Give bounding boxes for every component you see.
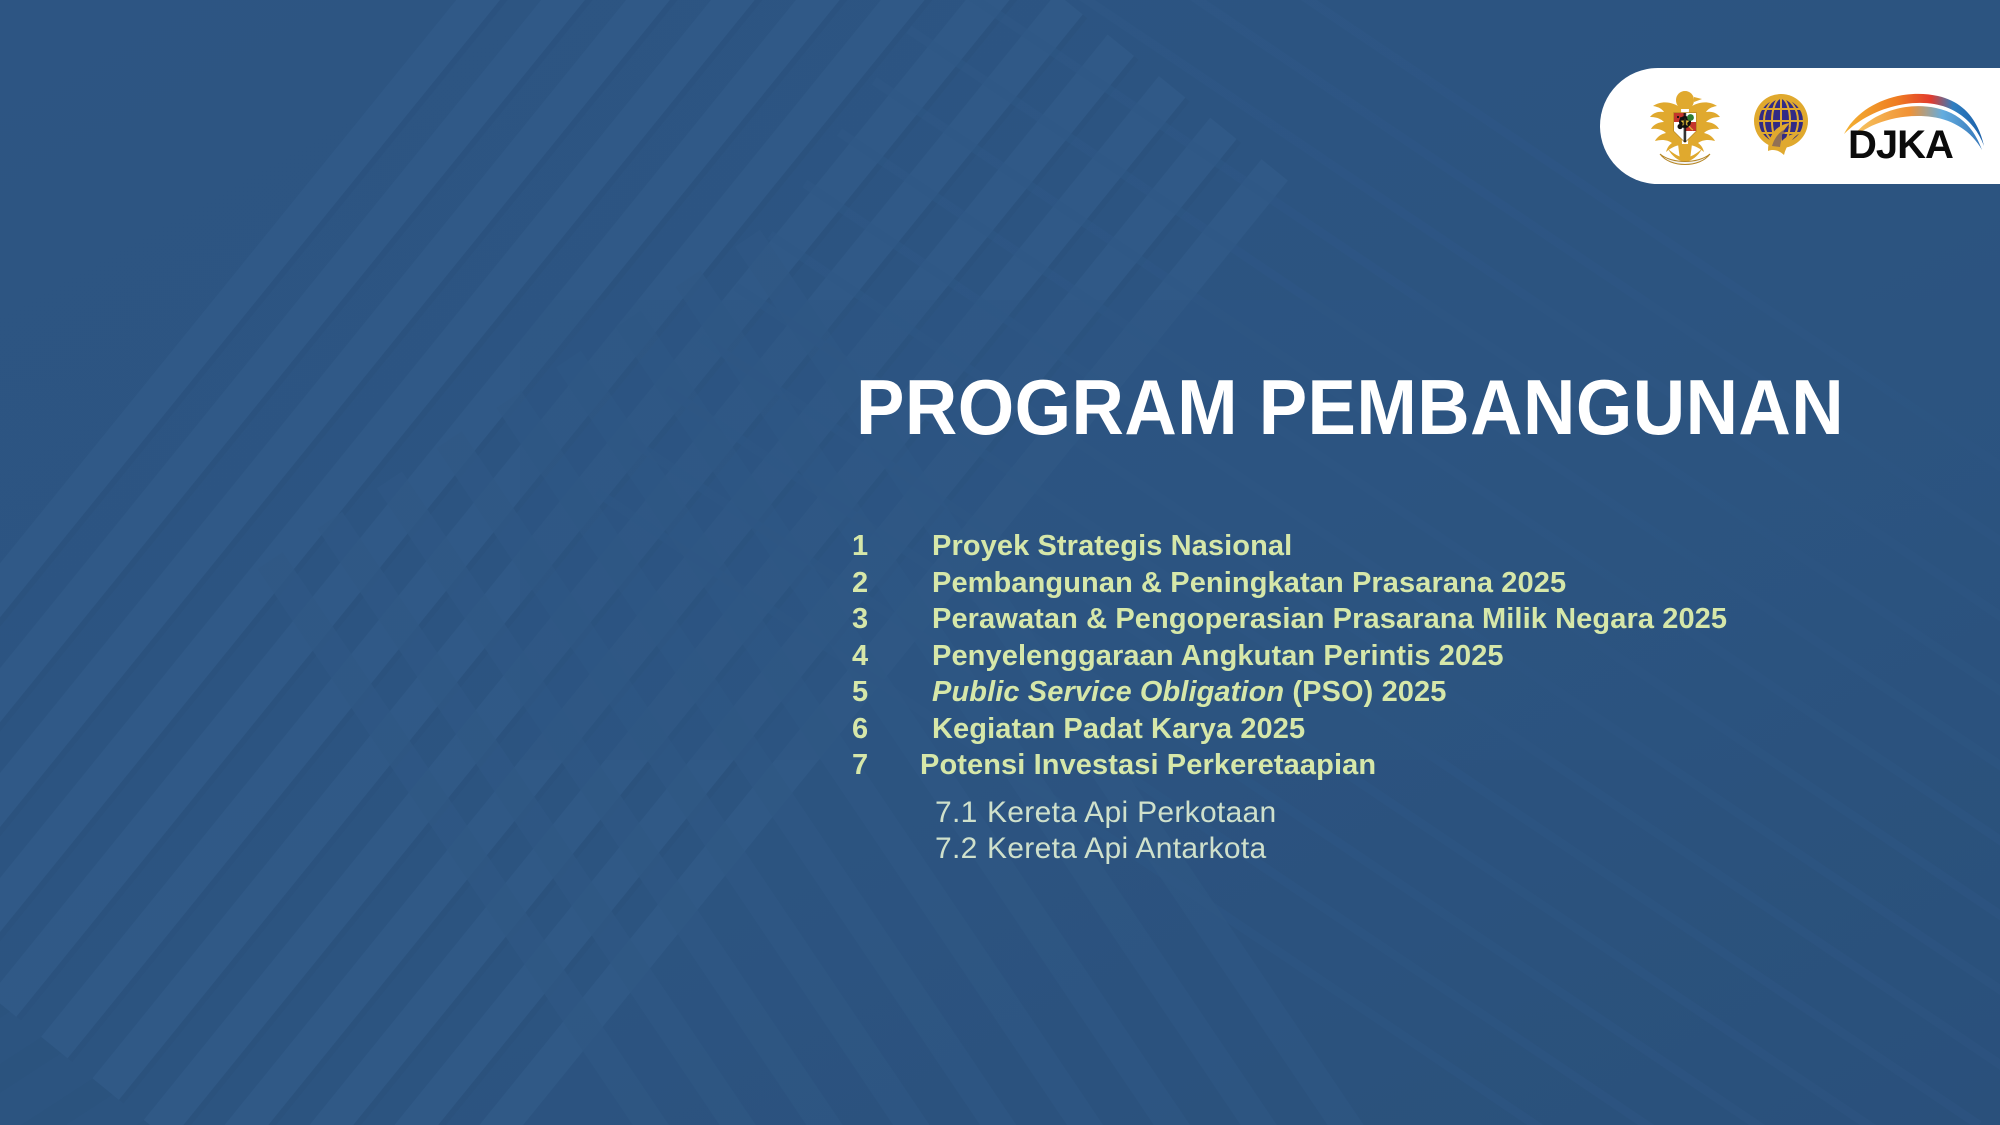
list-item[interactable]: 2 Pembangunan & Peningkatan Prasarana 20…: [852, 565, 1952, 602]
list-item-label: Potensi Investasi Perkeretaapian: [920, 747, 1376, 784]
slide-root: DJKA PROGRAM PEMBANGUNAN 1 Proyek Strate…: [0, 0, 2000, 1125]
sublist-item[interactable]: 7.1 Kereta Api Perkotaan: [935, 795, 1277, 831]
list-item[interactable]: 4 Penyelenggaraan Angkutan Perintis 2025: [852, 638, 1952, 675]
kemenhub-icon: [1748, 89, 1814, 163]
logo-bar: DJKA: [1600, 68, 2000, 184]
list-item-label-italic: Public Service Obligation: [932, 676, 1284, 708]
sublist-item-number: 7.2: [935, 831, 987, 867]
list-item[interactable]: 7 Potensi Investasi Perkeretaapian: [852, 747, 1952, 784]
garuda-pancasila-icon: [1648, 86, 1722, 166]
list-item-number: 1: [852, 528, 932, 565]
sublist-item[interactable]: 7.2 Kereta Api Antarkota: [935, 831, 1277, 867]
list-item-label: Public Service Obligation (PSO) 2025: [932, 674, 1447, 711]
agenda-list: 1 Proyek Strategis Nasional 2 Pembanguna…: [852, 528, 1952, 784]
list-item[interactable]: 6 Kegiatan Padat Karya 2025: [852, 711, 1952, 748]
list-item-label: Kegiatan Padat Karya 2025: [932, 711, 1305, 748]
svg-text:DJKA: DJKA: [1848, 123, 1953, 164]
sublist-item-label: Kereta Api Antarkota: [987, 831, 1267, 867]
list-item[interactable]: 3 Perawatan & Pengoperasian Prasarana Mi…: [852, 601, 1952, 638]
list-item-number: 5: [852, 674, 932, 711]
sublist-item-number: 7.1: [935, 795, 987, 831]
list-item[interactable]: 5 Public Service Obligation (PSO) 2025: [852, 674, 1952, 711]
list-item-number: 6: [852, 711, 932, 748]
list-item-number: 2: [852, 565, 932, 602]
list-item-label: Penyelenggaraan Angkutan Perintis 2025: [932, 638, 1504, 675]
djka-icon: DJKA: [1840, 88, 1990, 164]
list-item-number: 4: [852, 638, 932, 675]
list-item-label: Perawatan & Pengoperasian Prasarana Mili…: [932, 601, 1727, 638]
list-item-label-rest: (PSO) 2025: [1284, 676, 1446, 708]
list-item-label: Pembangunan & Peningkatan Prasarana 2025: [932, 565, 1566, 602]
page-title: PROGRAM PEMBANGUNAN: [856, 368, 1842, 446]
list-item-number: 7: [852, 747, 920, 784]
list-item-label: Proyek Strategis Nasional: [932, 528, 1292, 565]
sublist-item-label: Kereta Api Perkotaan: [987, 795, 1277, 831]
agenda-sublist: 7.1 Kereta Api Perkotaan 7.2 Kereta Api …: [935, 795, 1277, 867]
list-item-number: 3: [852, 601, 932, 638]
list-item[interactable]: 1 Proyek Strategis Nasional: [852, 528, 1952, 565]
